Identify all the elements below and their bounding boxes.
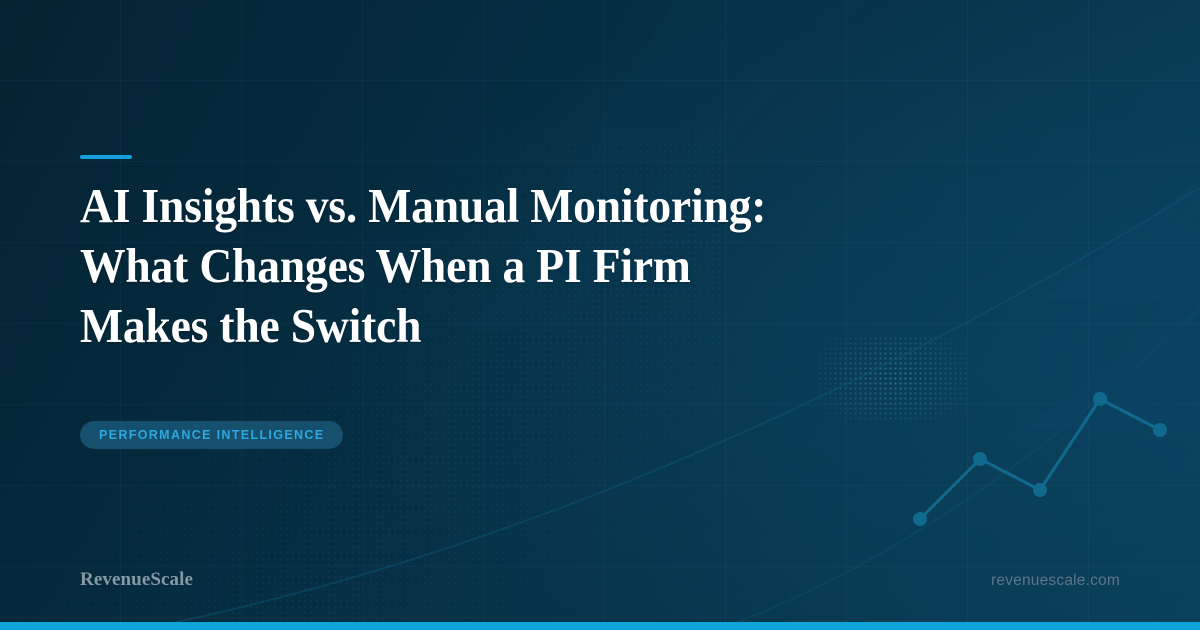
page-title: AI Insights vs. Manual Monitoring: What … [80, 176, 787, 356]
trend-point [1093, 392, 1107, 406]
accent-rule [80, 155, 132, 159]
trend-point [1153, 423, 1167, 437]
trend-line [920, 399, 1160, 519]
trend-point [973, 452, 987, 466]
social-card: AI Insights vs. Manual Monitoring: What … [0, 0, 1200, 630]
dot-matrix-decoration [818, 336, 970, 422]
brand-wordmark: RevenueScale [80, 569, 193, 591]
category-badge: PERFORMANCE INTELLIGENCE [80, 421, 343, 449]
trend-point [913, 512, 927, 526]
trend-point [1033, 483, 1047, 497]
site-url: revenuescale.com [991, 572, 1120, 590]
bottom-accent-rule [0, 622, 1200, 630]
